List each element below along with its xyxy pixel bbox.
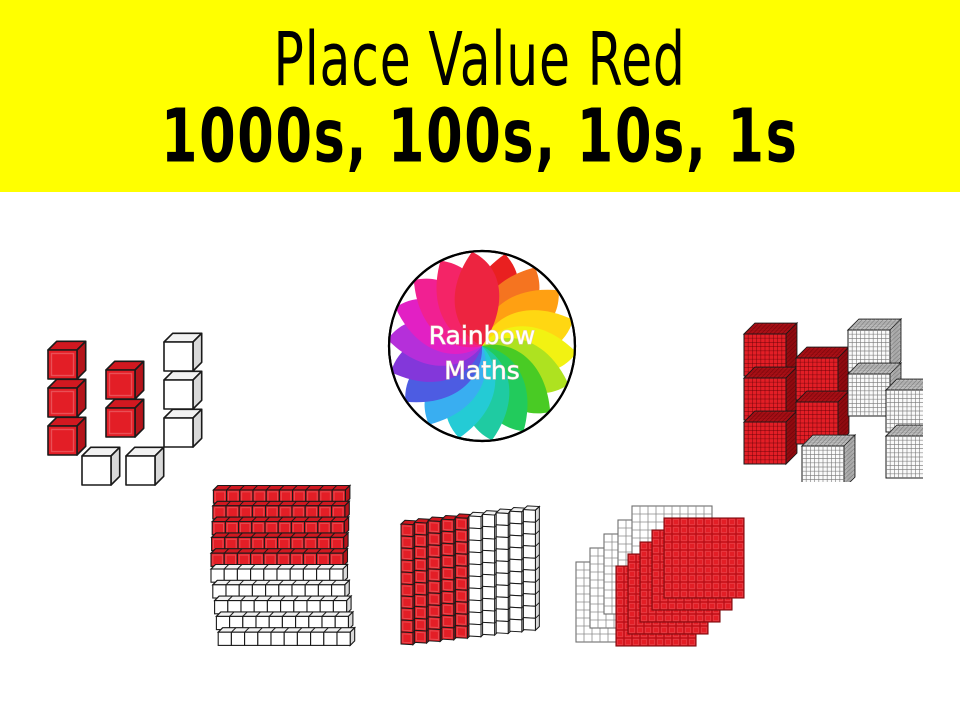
tens-rods-vertical-group	[395, 498, 560, 650]
thousands-cubes-group	[738, 312, 923, 482]
tens-rods-vertical-graphic	[395, 498, 560, 650]
tens-rods-horizontal-graphic	[205, 478, 370, 650]
tens-rods-horizontal-group	[205, 478, 370, 650]
page-subtitle: 1000s, 100s, 10s, 1s	[161, 99, 799, 173]
thousands-cubes-graphic	[738, 312, 923, 482]
slide-root: Place Value Red 1000s, 100s, 10s, 1s Rai…	[0, 0, 960, 720]
rainbow-maths-logo: Rainbow Maths	[386, 248, 578, 444]
ones-cubes-group	[34, 312, 214, 487]
logo-text-line-1: Rainbow	[429, 321, 536, 350]
page-title: Place Value Red	[274, 22, 686, 96]
hundreds-flats-group	[570, 480, 750, 652]
title-banner: Place Value Red 1000s, 100s, 10s, 1s	[0, 0, 960, 192]
logo-graphic: Rainbow Maths	[386, 248, 578, 444]
hundreds-flats-graphic	[570, 480, 750, 652]
ones-cubes-graphic	[34, 312, 214, 487]
logo-text-line-2: Maths	[444, 356, 520, 385]
